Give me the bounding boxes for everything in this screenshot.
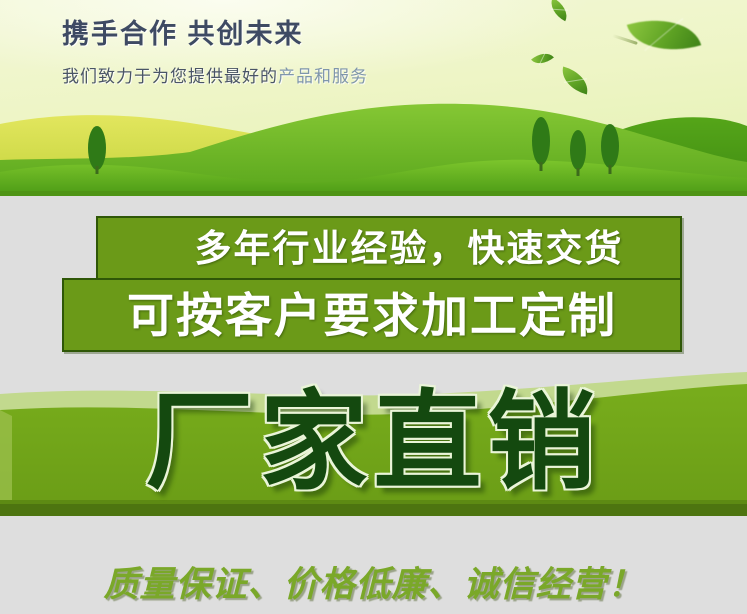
content-section: 多年行业经验，快速交货 可按客户要求加工定制 <box>0 196 747 614</box>
wave-band <box>0 366 747 516</box>
hero-section: 携手合作 共创未来 我们致力于为您提供最好的产品和服务 <box>0 0 747 196</box>
tagline-bar: 质量保证、价格低廉、诚信经营！ <box>0 548 747 614</box>
hero-headline: 携手合作 共创未来 <box>62 18 368 50</box>
callout-row-1: 多年行业经验，快速交货 <box>96 216 682 278</box>
tagline-text: 质量保证、价格低廉、诚信经营！ <box>103 556 643 607</box>
hero-subtitle: 我们致力于为您提供最好的产品和服务 <box>62 62 368 87</box>
hero-subtitle-accent: 产品和服务 <box>278 67 368 86</box>
callout-row-2: 可按客户要求加工定制 <box>62 278 682 352</box>
callout-line-2: 可按客户要求加工定制 <box>127 292 617 339</box>
promo-banner: 携手合作 共创未来 我们致力于为您提供最好的产品和服务 多年行业经验，快速交货 … <box>0 0 747 614</box>
hero-subtitle-main: 我们致力于为您提供最好的 <box>62 67 278 86</box>
hero-text-block: 携手合作 共创未来 我们致力于为您提供最好的产品和服务 <box>62 18 368 87</box>
callout-line-1: 多年行业经验，快速交货 <box>155 230 624 267</box>
callout-block: 多年行业经验，快速交货 可按客户要求加工定制 <box>62 216 682 352</box>
